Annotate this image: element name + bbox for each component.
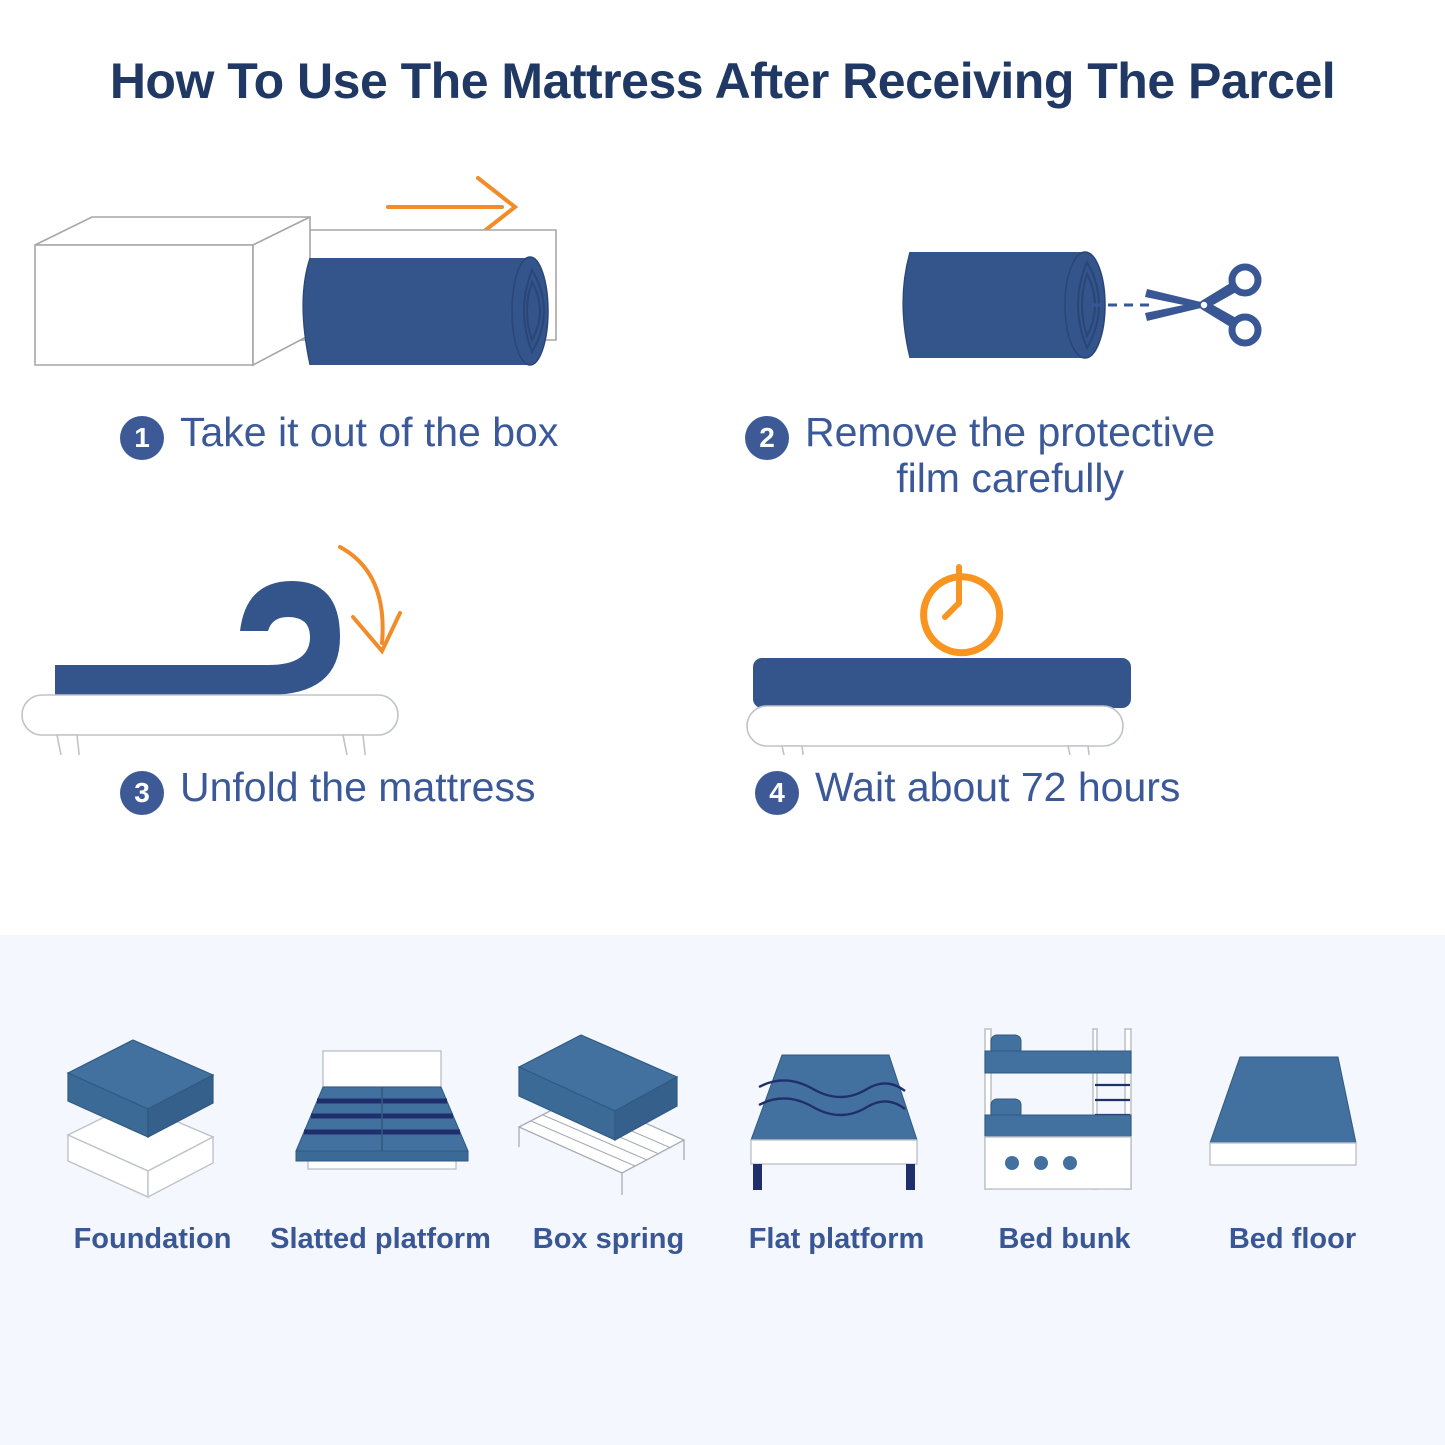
bed-bunk-art [952, 1015, 1177, 1205]
clock-icon [924, 567, 1000, 653]
step-1-text: Take it out of the box [180, 410, 558, 456]
surface-bed-floor: Bed floor [1180, 1015, 1405, 1256]
box-and-roll-icon [10, 170, 710, 400]
flat-mattress [753, 658, 1131, 708]
bed-bunk-icon [975, 1015, 1155, 1205]
step-2: 2 Remove the protective film carefully [735, 170, 1435, 502]
bed-base [747, 706, 1123, 755]
slatted-platform-art [268, 1015, 493, 1205]
surface-label-box-spring: Box spring [496, 1223, 721, 1256]
step-1-line-1: Take it out of the box [180, 409, 558, 455]
step-1: 1 Take it out of the box [10, 170, 710, 460]
step-2-badge: 2 [745, 416, 789, 460]
surface-label-bed-floor: Bed floor [1180, 1223, 1405, 1256]
step-3-text: Unfold the mattress [180, 765, 536, 811]
step-1-illustration [10, 170, 710, 400]
step-2-caption: 2 Remove the protective film carefully [735, 410, 1435, 502]
step-2-illustration [735, 170, 1435, 400]
scissors-icon [1145, 267, 1258, 343]
step-3-caption: 3 Unfold the mattress [10, 765, 710, 815]
surface-bed-bunk: Bed bunk [952, 1015, 1177, 1256]
box-spring-icon [509, 1015, 709, 1205]
wait-clock-icon [735, 525, 1435, 755]
step-1-caption: 1 Take it out of the box [10, 410, 710, 460]
surface-slatted-platform: Slatted platform [268, 1015, 493, 1256]
surface-foundation: Foundation [40, 1015, 265, 1256]
step-4-badge: 4 [755, 771, 799, 815]
surface-label-slatted-platform: Slatted platform [268, 1223, 493, 1256]
steps-section: 1 Take it out of the box [0, 170, 1445, 910]
page-title: How To Use The Mattress After Receiving … [0, 52, 1445, 110]
step-2-line-1: Remove the protective [805, 409, 1215, 455]
step-3-line-1: Unfold the mattress [180, 764, 536, 810]
slatted-platform-icon [278, 1015, 483, 1205]
surface-label-bed-bunk: Bed bunk [952, 1223, 1177, 1256]
foundation-art [40, 1015, 265, 1205]
roll-and-scissors-icon [735, 170, 1435, 400]
step-4: 4 Wait about 72 hours [735, 525, 1435, 815]
step-3: 3 Unfold the mattress [10, 525, 710, 815]
bed-floor-art [1180, 1015, 1405, 1205]
flat-platform-art [724, 1015, 949, 1205]
step-2-text: Remove the protective film carefully [805, 410, 1215, 502]
step-4-line-1: Wait about 72 hours [815, 764, 1180, 810]
step-3-illustration [10, 525, 710, 755]
box-spring-art [496, 1015, 721, 1205]
surface-flat-platform: Flat platform [724, 1015, 949, 1256]
step-4-illustration [735, 525, 1435, 755]
unfold-mattress-icon [10, 525, 710, 755]
surface-box-spring: Box spring [496, 1015, 721, 1256]
flat-platform-icon [737, 1015, 937, 1205]
surface-label-flat-platform: Flat platform [724, 1223, 949, 1256]
step-2-line-2: film carefully [805, 456, 1215, 502]
bed-floor-icon [1198, 1015, 1388, 1205]
step-4-text: Wait about 72 hours [815, 765, 1180, 811]
curled-mattress [55, 581, 340, 695]
step-3-badge: 3 [120, 771, 164, 815]
foundation-icon [53, 1015, 253, 1205]
step-1-badge: 1 [120, 416, 164, 460]
compatible-surfaces-panel: Foundation [0, 935, 1445, 1445]
surface-label-foundation: Foundation [40, 1223, 265, 1256]
step-4-caption: 4 Wait about 72 hours [735, 765, 1435, 815]
infographic-page: How To Use The Mattress After Receiving … [0, 0, 1445, 1445]
bed-base [22, 695, 398, 755]
surfaces-row: Foundation [0, 1015, 1445, 1256]
